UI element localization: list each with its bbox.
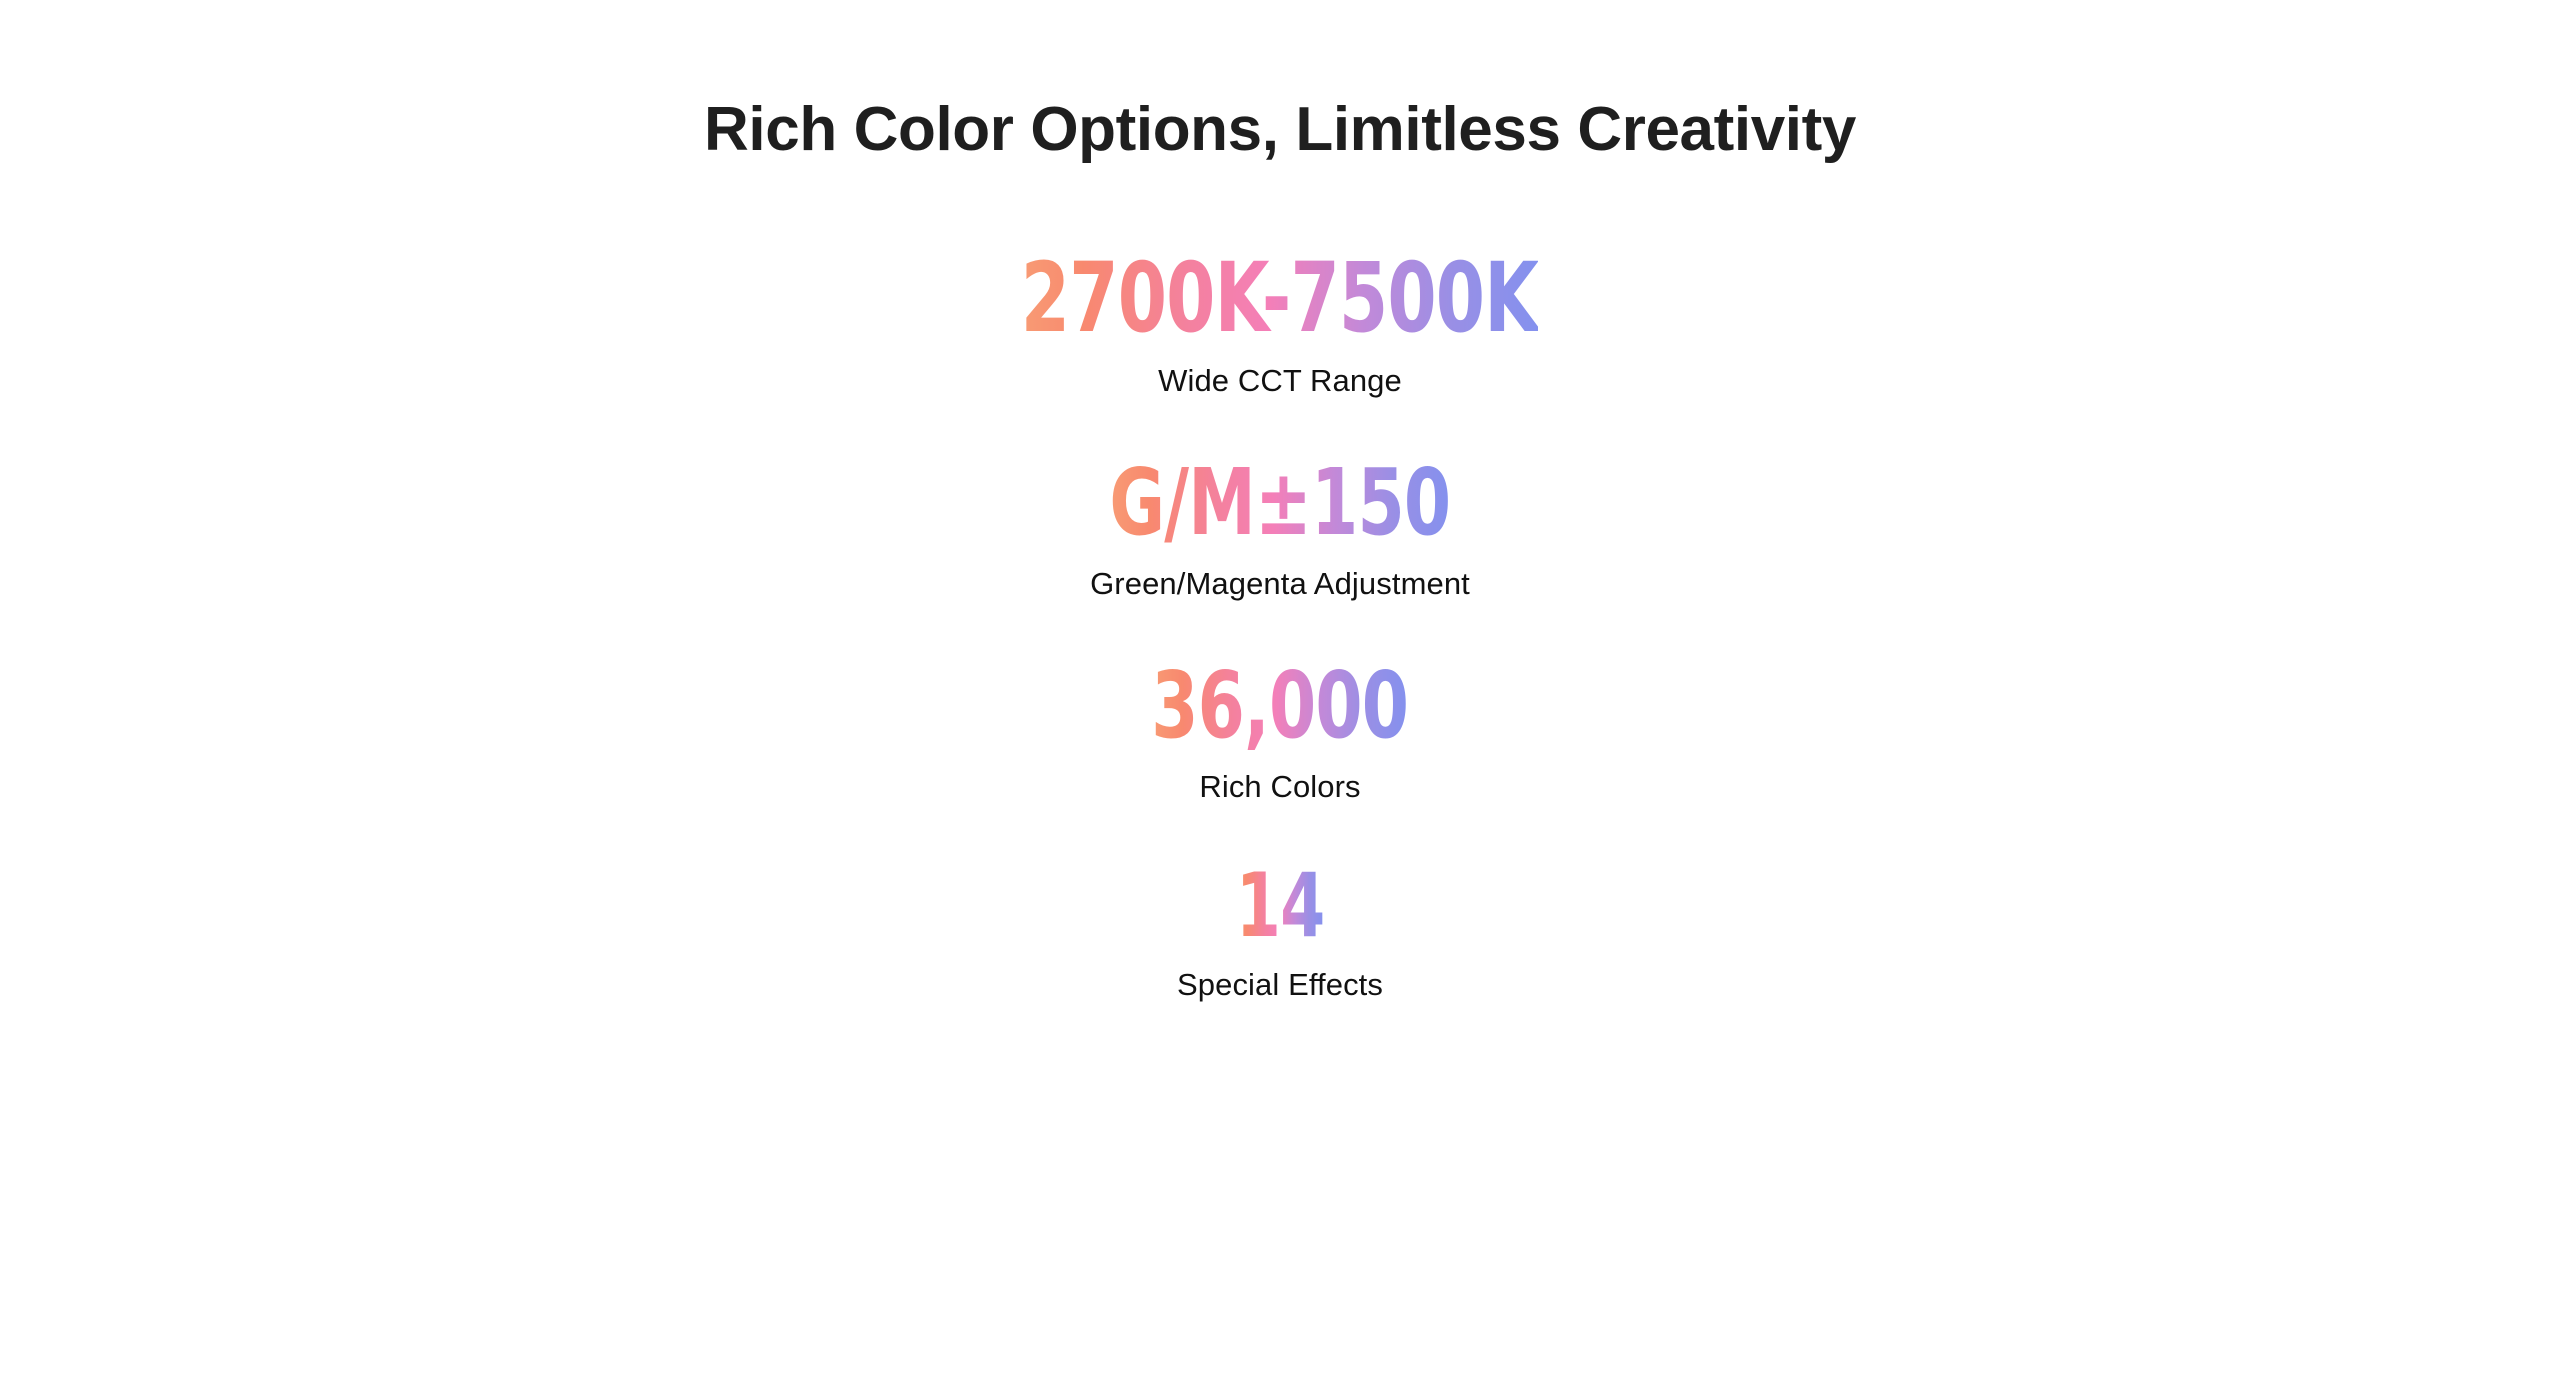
stat-block-rich-colors: 36,000 Rich Colors <box>0 660 2560 807</box>
stat-label-green-magenta: Green/Magenta Adjustment <box>1090 565 1470 604</box>
stat-label-cct: Wide CCT Range <box>1158 362 1402 401</box>
promo-page: Rich Color Options, Limitless Creativity… <box>0 0 2560 1375</box>
stat-value-green-magenta: G/M±150 <box>1110 457 1451 549</box>
stat-label-rich-colors: Rich Colors <box>1199 768 1360 807</box>
stat-value-special-effects: 14 <box>1236 862 1325 950</box>
stat-value-rich-colors: 36,000 <box>1152 660 1409 752</box>
stat-label-special-effects: Special Effects <box>1177 966 1383 1005</box>
stat-value-cct: 2700K-7500K <box>1021 250 1539 346</box>
page-title: Rich Color Options, Limitless Creativity <box>0 94 2560 165</box>
stat-block-green-magenta: G/M±150 Green/Magenta Adjustment <box>0 457 2560 604</box>
stat-block-cct: 2700K-7500K Wide CCT Range <box>0 250 2560 401</box>
stats-list: 2700K-7500K Wide CCT Range G/M±150 Green… <box>0 250 2560 1005</box>
stat-block-special-effects: 14 Special Effects <box>0 862 2560 1005</box>
